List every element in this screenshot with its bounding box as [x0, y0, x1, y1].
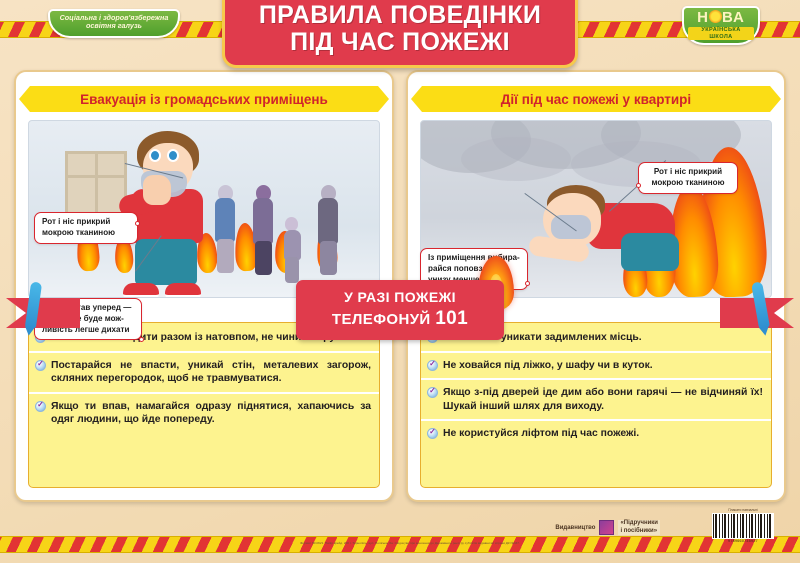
- figure-body: [253, 198, 273, 244]
- callout-line: Рот і ніс прикрий: [42, 217, 130, 228]
- list-item: Якщо ти впав, намагайся одразу піднятися…: [29, 394, 379, 433]
- callout-line: ливість легше дихати: [42, 325, 134, 336]
- barcode-image: [712, 513, 774, 539]
- list-item: Постарайся не впасти, уникай стін, метал…: [29, 353, 379, 394]
- barcode-block: Плакати навчальні 9789660735927: [712, 508, 774, 543]
- smoke-cloud: [461, 137, 571, 181]
- education-branch-badge: Соціальна і здоров'язбережна освітня гал…: [48, 9, 180, 38]
- callout-elbows-forward: Лікті вистав уперед — так у тебе буде мо…: [34, 298, 142, 340]
- education-branch-line2: освітня галузь: [58, 22, 170, 30]
- publisher-logo-icon: [599, 520, 614, 535]
- rule-text: Постарайся не впасти, уникай стін, метал…: [51, 359, 371, 386]
- boy-hand: [143, 175, 171, 205]
- poster-title-plaque: ПРАВИЛА ПОВЕДІНКИ ПІД ЧАС ПОЖЕЖІ: [222, 0, 578, 68]
- figure-body: [284, 230, 301, 260]
- rules-list-right: Намагайся уникати задимлених місць. Не х…: [420, 322, 772, 488]
- rule-text: Не ховайся під ліжко, у шафу чи в куток.: [443, 359, 653, 373]
- callout-anchor-dot: [636, 183, 641, 188]
- publisher-name-line2: і посібники»: [618, 528, 660, 536]
- figure-legs: [320, 241, 337, 275]
- panel-left-header: Евакуація із громадських приміщень: [30, 86, 378, 112]
- crowd-figure-child: [281, 217, 303, 289]
- page-title: ПРАВИЛА ПОВЕДІНКИ ПІД ЧАС ПОЖЕЖІ: [259, 2, 541, 56]
- callout-crawl-out: Із приміщення вибира- райся поповзом — у…: [420, 248, 528, 290]
- callout-line: райся поповзом —: [428, 264, 520, 275]
- crawl-pants: [621, 233, 679, 271]
- boy-eye: [169, 151, 177, 160]
- sun-icon: [709, 10, 722, 23]
- figure-legs: [285, 257, 299, 283]
- publisher-name: «Підручники і посібники»: [618, 520, 660, 535]
- boy-crawling: [525, 187, 675, 283]
- list-item: Якщо з-під дверей іде дим або вони гаряч…: [421, 380, 771, 421]
- nus-logo-subtitle: УКРАЇНСЬКА ШКОЛА: [688, 27, 754, 40]
- rules-list-left: Намагайся виходити разом із натовпом, не…: [28, 322, 380, 488]
- barcode-caption: Плакати навчальні: [712, 508, 774, 512]
- check-badge-icon: [35, 401, 46, 412]
- boy-shoe: [123, 283, 159, 298]
- check-badge-icon: [427, 360, 438, 371]
- rule-text: Не користуйся ліфтом під час пожежі.: [443, 427, 639, 441]
- callout-line: Рот і ніс прикрий: [646, 167, 730, 178]
- publisher-name-line1: «Підручники: [618, 520, 660, 528]
- callout-line: мокрою тканиною: [42, 228, 130, 239]
- callout-cover-mouth: Рот і ніс прикрий мокрою тканиною: [34, 212, 138, 244]
- crowd-figure: [249, 185, 277, 289]
- callout-line: Із приміщення вибира-: [428, 253, 520, 264]
- check-badge-icon: [427, 332, 438, 343]
- callout-anchor-dot: [135, 221, 140, 226]
- rule-text: Намагайся уникати задимлених місць.: [443, 331, 642, 345]
- boy-eye: [151, 151, 159, 160]
- boy-pants: [135, 239, 197, 285]
- rule-text: Якщо з-під дверей іде дим або вони гаряч…: [443, 386, 763, 413]
- rule-text: Якщо ти впав, намагайся одразу піднятися…: [51, 400, 371, 427]
- check-badge-icon: [427, 428, 438, 439]
- callout-line: мокрою тканиною: [646, 178, 730, 189]
- publisher-prefix: Видавництво: [555, 525, 595, 531]
- list-item: Не ховайся під ліжко, у шафу чи в куток.: [421, 353, 771, 381]
- panel-evacuation-public: Евакуація із громадських приміщень: [14, 70, 394, 502]
- title-line-1: ПРАВИЛА ПОВЕДІНКИ: [259, 1, 541, 29]
- fire-safety-poster: Соціальна і здоров'язбережна освітня гал…: [0, 0, 800, 563]
- callout-line: Лікті вистав уперед —: [42, 303, 134, 314]
- figure-head: [285, 217, 298, 231]
- callout-cover-mouth: Рот і ніс прикрий мокрою тканиною: [638, 162, 738, 194]
- figure-legs: [255, 241, 272, 275]
- title-line-2: ПІД ЧАС ПОЖЕЖІ: [290, 28, 510, 56]
- list-item: Намагайся уникати задимлених місць.: [421, 325, 771, 353]
- check-badge-icon: [35, 360, 46, 371]
- legal-imprint-text: Формат 60×84/1. Папір крейд. 200 г. Терн…: [150, 541, 670, 545]
- callout-line: так у тебе буде мож-: [42, 314, 134, 325]
- illustration-crowd-evacuation: [28, 120, 380, 298]
- publisher-credit: Видавництво «Підручники і посібники»: [555, 520, 660, 535]
- panel-apartment-fire: Дії під час пожежі у квартирі: [406, 70, 786, 502]
- check-badge-icon: [427, 387, 438, 398]
- callout-line: унизу менше диму: [428, 275, 520, 286]
- new-ukrainian-school-logo: НВА УКРАЇНСЬКА ШКОЛА: [682, 6, 760, 45]
- crowd-figure: [313, 185, 343, 289]
- boy-shoe: [165, 283, 201, 298]
- barcode-number: 9789660735927: [712, 539, 774, 543]
- figure-body: [318, 198, 338, 244]
- nus-logo-title: НВА: [688, 9, 754, 26]
- list-item: Не користуйся ліфтом під час пожежі.: [421, 421, 771, 447]
- panel-right-header: Дії під час пожежі у квартирі: [422, 86, 770, 112]
